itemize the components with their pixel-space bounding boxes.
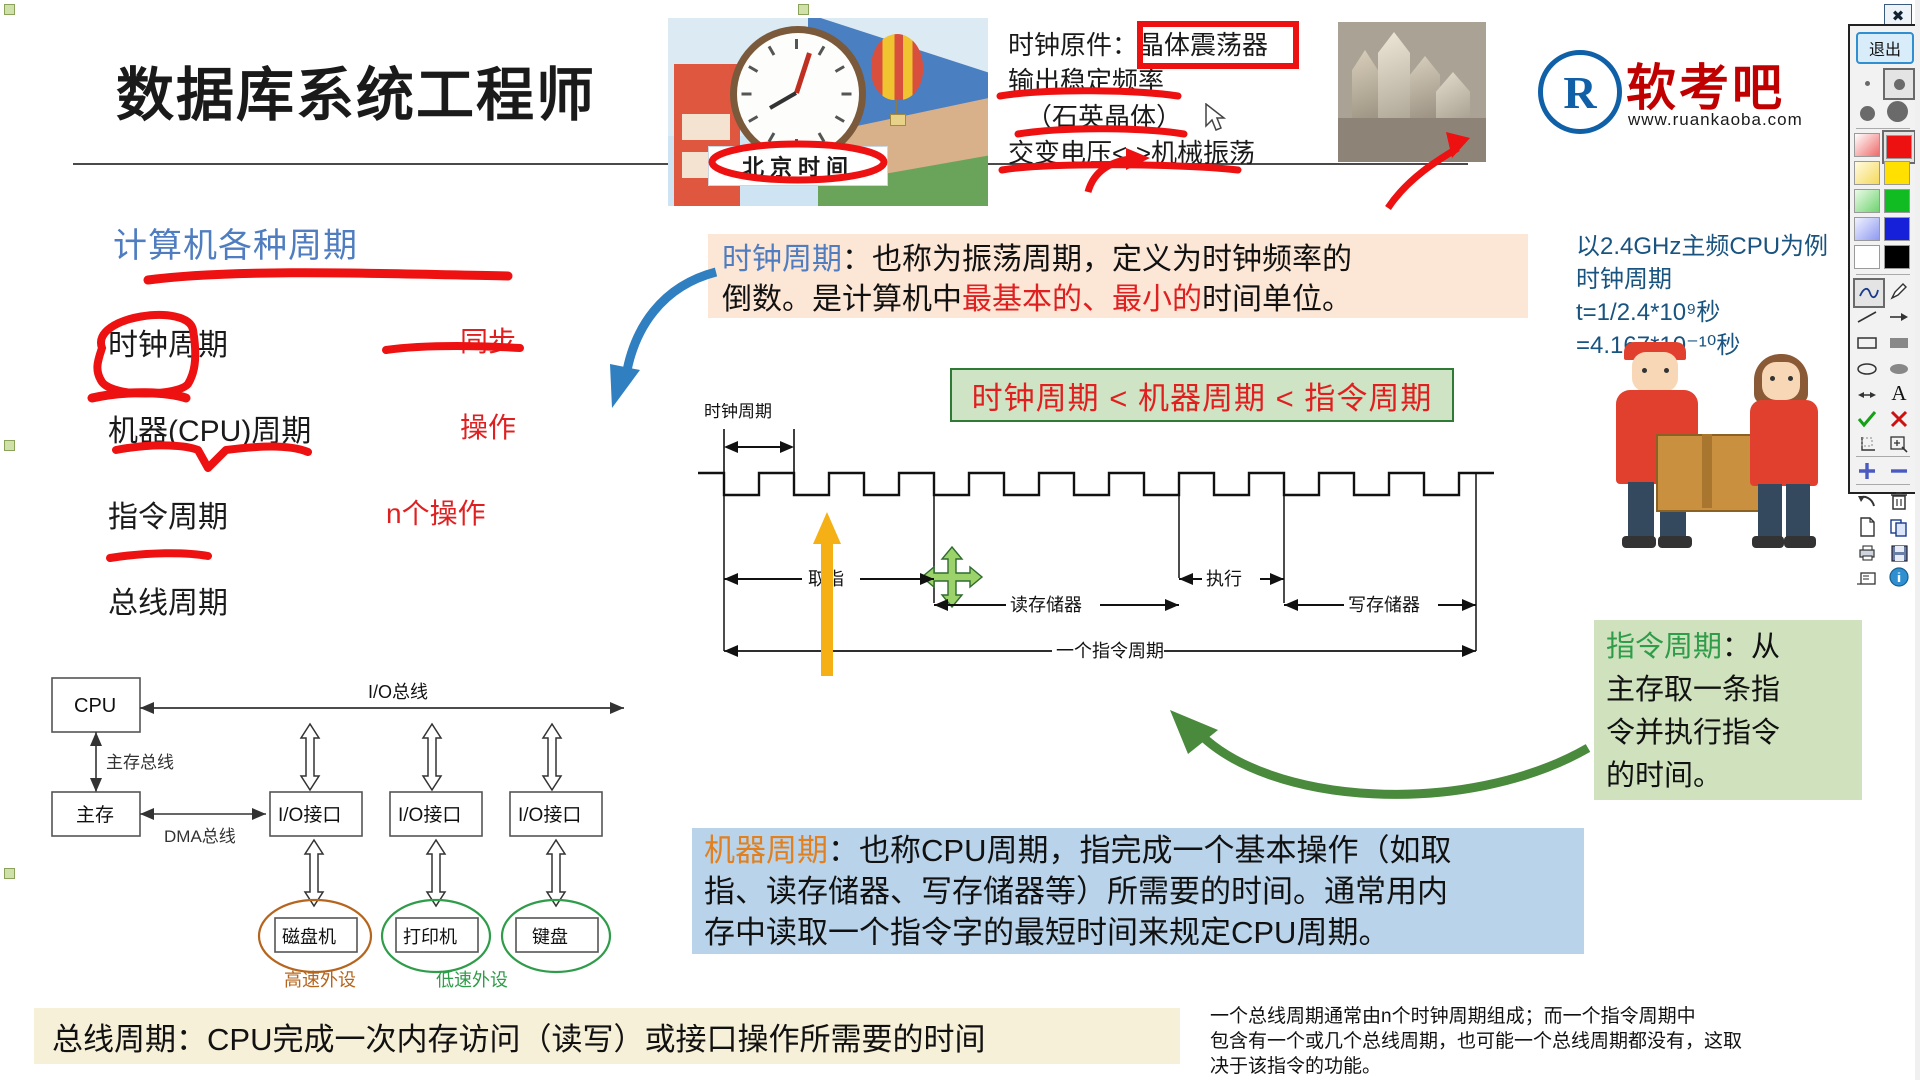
instr-def-line4: 的时间。	[1606, 755, 1854, 798]
svg-text:DMA总线: DMA总线	[164, 827, 236, 846]
machine-def-line2: 指、读存储器、写存储器等）所需要的时间。通常用内	[704, 871, 1576, 912]
svg-text:打印机: 打印机	[403, 927, 457, 947]
cycle-note-0: 同步	[460, 320, 516, 360]
color-swatch-light-yellow[interactable]	[1853, 160, 1881, 186]
instr-def-term: 指令周期	[1606, 631, 1722, 663]
clock-def-line1-rest: ：也称为振荡周期，定义为时钟频率的	[842, 243, 1352, 276]
bottom-note-line-1: 包含有一个或几个总线周期，也可能一个总线周期都没有，这取	[1210, 1029, 1830, 1054]
svg-text:执行: 执行	[1206, 569, 1242, 589]
io-bus-diagram: CPU I/O总线 主存总线 主存 DMA总线 I/O接	[38, 668, 638, 988]
calc-line-1: 时钟周期	[1576, 263, 1840, 296]
save-icon[interactable]	[1885, 540, 1913, 566]
pen-size-l-button[interactable]	[1883, 98, 1911, 124]
vertical-scrollbar[interactable]	[1915, 0, 1920, 1080]
crop-icon[interactable]	[1853, 432, 1881, 458]
green-curved-arrow-icon	[1136, 708, 1606, 828]
clock-illustration: 北京时间	[668, 18, 988, 206]
ellipse-filled-icon[interactable]	[1885, 356, 1913, 382]
undo-icon[interactable]	[1853, 488, 1881, 514]
color-swatch-yellow[interactable]	[1883, 160, 1911, 186]
selection-handle-bl[interactable]	[4, 868, 15, 879]
clock-def-term: 时钟周期	[722, 243, 842, 276]
svg-text:高速外设: 高速外设	[284, 970, 356, 988]
page-title: 数据库系统工程师	[116, 48, 596, 132]
arrow-icon[interactable]	[1885, 304, 1913, 330]
add-icon[interactable]	[1853, 458, 1881, 484]
calc-line-0: 以2.4GHz主频CPU为例	[1576, 230, 1840, 263]
svg-text:低速外设: 低速外设	[436, 970, 508, 988]
color-swatch-light-green[interactable]	[1853, 188, 1881, 214]
color-swatch-blue[interactable]	[1883, 216, 1911, 242]
color-swatch-green[interactable]	[1883, 188, 1911, 214]
svg-text:主存: 主存	[76, 804, 114, 826]
selection-handle-tl[interactable]	[4, 4, 15, 15]
top-note-1: 输出稳定频率	[1008, 66, 1164, 96]
machine-def-line1-rest: ：也称CPU周期，指完成一个基本操作（如取	[828, 833, 1451, 868]
rectangle-outline-icon[interactable]	[1853, 330, 1881, 356]
instr-def-line2: 主存取一条指	[1606, 669, 1854, 712]
subtract-icon[interactable]	[1885, 458, 1913, 484]
bottom-note-line-0: 一个总线周期通常由n个时钟周期组成；而一个指令周期中	[1210, 1004, 1830, 1029]
note-icon[interactable]	[1853, 566, 1881, 592]
machine-def-term: 机器周期	[704, 833, 828, 868]
color-swatch-red[interactable]	[1882, 130, 1916, 164]
instr-def-line1: 指令周期：从	[1606, 626, 1854, 669]
cycle-term-0: 时钟周期	[108, 320, 228, 364]
clock-def-line2-highlight: 最基本的、最小的	[962, 283, 1202, 316]
info-icon[interactable]	[1885, 564, 1913, 590]
calc-line-2: t=1/2.4*10⁹秒	[1576, 296, 1840, 329]
svg-text:CPU: CPU	[74, 695, 116, 717]
svg-text:I/O接口: I/O接口	[278, 804, 341, 826]
check-mark-icon[interactable]	[1853, 406, 1881, 432]
bus-def-term: 总线周期	[52, 1022, 176, 1057]
highlighter-pen-icon[interactable]	[1885, 278, 1913, 304]
svg-text:键盘: 键盘	[532, 927, 568, 947]
svg-text:读存储器: 读存储器	[1010, 595, 1082, 615]
exit-button[interactable]: 退出	[1856, 32, 1914, 64]
color-swatch-white[interactable]	[1853, 244, 1881, 270]
instruction-cycle-definition-box: 指令周期：从 主存取一条指 令并执行指令 的时间。	[1594, 620, 1862, 800]
top-note-0: 时钟原件：晶体震荡器	[1008, 30, 1268, 60]
cycle-note-1: 操作	[460, 406, 516, 446]
color-swatch-black[interactable]	[1883, 244, 1911, 270]
clock-def-line2: 倒数。是计算机中最基本的、最小的时间单位。	[722, 280, 1518, 320]
print-icon[interactable]	[1853, 540, 1881, 566]
cross-mark-icon[interactable]	[1885, 406, 1913, 432]
presentation-window: 数据库系统工程师 计算机各种周期 时钟周期 同步 机器(CPU)周期 操作 指令…	[0, 0, 1920, 1080]
svg-text:取指: 取指	[808, 569, 844, 589]
cycle-term-2: 指令周期	[108, 492, 228, 536]
new-page-icon[interactable]	[1853, 514, 1881, 540]
svg-text:时钟周期: 时钟周期	[704, 403, 772, 421]
section-subtitle: 计算机各种周期	[113, 218, 358, 267]
delete-icon[interactable]	[1885, 488, 1913, 514]
pen-size-s-button[interactable]	[1883, 68, 1915, 100]
logo-mark-icon: R	[1538, 50, 1622, 134]
double-arrow-icon[interactable]	[1853, 382, 1881, 408]
machine-def-line3: 存中读取一个指令字的最短时间来规定CPU周期。	[704, 912, 1576, 953]
top-note-2: （石英晶体）	[1026, 102, 1182, 132]
move-cursor-icon	[922, 547, 982, 607]
bus-def-rest: ：CPU完成一次内存访问（读写）或接口操作所需要的时间	[176, 1022, 985, 1057]
pen-size-xs-button[interactable]	[1853, 70, 1881, 96]
pen-size-m-button[interactable]	[1853, 100, 1881, 126]
copy-icon[interactable]	[1885, 514, 1913, 540]
svg-text:一个指令周期: 一个指令周期	[1056, 641, 1164, 661]
color-swatch-light-blue[interactable]	[1853, 216, 1881, 242]
instruction-timing-chart: 时钟周期 取指	[698, 403, 1498, 663]
svg-text:主存总线: 主存总线	[106, 753, 174, 772]
svg-text:I/O接口: I/O接口	[398, 804, 461, 826]
slide-canvas[interactable]: 数据库系统工程师 计算机各种周期 时钟周期 同步 机器(CPU)周期 操作 指令…	[8, 8, 1840, 1072]
svg-text:磁盘机: 磁盘机	[282, 927, 336, 947]
brand-logo: R 软考吧 www.ruankaoba.com	[1538, 48, 1838, 138]
svg-text:I/O总线: I/O总线	[368, 682, 428, 702]
instr-def-line3: 令并执行指令	[1606, 712, 1854, 755]
bottom-note: 一个总线周期通常由n个时钟周期组成；而一个指令周期中 包含有一个或几个总线周期，…	[1210, 1004, 1830, 1079]
ellipse-outline-icon[interactable]	[1853, 356, 1881, 382]
rectangle-filled-icon[interactable]	[1885, 330, 1913, 356]
cycle-term-3: 总线周期	[108, 578, 228, 622]
mouse-cursor	[1204, 103, 1226, 133]
top-note-3: 交变电压<->机械振荡	[1008, 138, 1255, 168]
selection-handle-ml[interactable]	[4, 440, 15, 451]
bottom-note-line-2: 决于该指令的功能。	[1210, 1054, 1830, 1079]
instr-def-line1-rest: ：从	[1722, 631, 1780, 663]
clock-photo-label: 北京时间	[708, 146, 888, 186]
line-icon[interactable]	[1853, 304, 1881, 330]
cycle-note-2: n个操作	[386, 492, 486, 532]
machine-cycle-definition-box: 机器周期：也称CPU周期，指完成一个基本操作（如取 指、读存储器、写存储器等）所…	[692, 828, 1584, 954]
svg-text:I/O接口: I/O接口	[518, 804, 581, 826]
clock-def-line1: 时钟周期：也称为振荡周期，定义为时钟频率的	[722, 240, 1518, 280]
cycle-term-1: 机器(CPU)周期	[108, 406, 311, 450]
bus-cycle-definition-box: 总线周期：CPU完成一次内存访问（读写）或接口操作所需要的时间	[34, 1008, 1180, 1064]
delivery-people-illustration	[1598, 338, 1838, 588]
annotation-toolbar[interactable]: 退出	[1848, 24, 1918, 494]
zoom-in-icon[interactable]	[1885, 432, 1913, 458]
clock-def-line2-a: 倒数。是计算机中	[722, 283, 962, 316]
color-swatch-light-red[interactable]	[1853, 132, 1881, 158]
clock-def-line2-b: 时间单位。	[1202, 283, 1352, 316]
svg-text:写存储器: 写存储器	[1348, 595, 1420, 615]
text-tool-icon[interactable]: A	[1885, 380, 1913, 406]
quartz-crystal-photo	[1338, 22, 1486, 162]
selection-handle-tc[interactable]	[798, 4, 809, 15]
clock-cycle-definition-box: 时钟周期：也称为振荡周期，定义为时钟频率的 倒数。是计算机中最基本的、最小的时间…	[708, 234, 1528, 318]
logo-url: www.ruankaoba.com	[1628, 110, 1803, 130]
machine-def-line1: 机器周期：也称CPU周期，指完成一个基本操作（如取	[704, 830, 1576, 871]
